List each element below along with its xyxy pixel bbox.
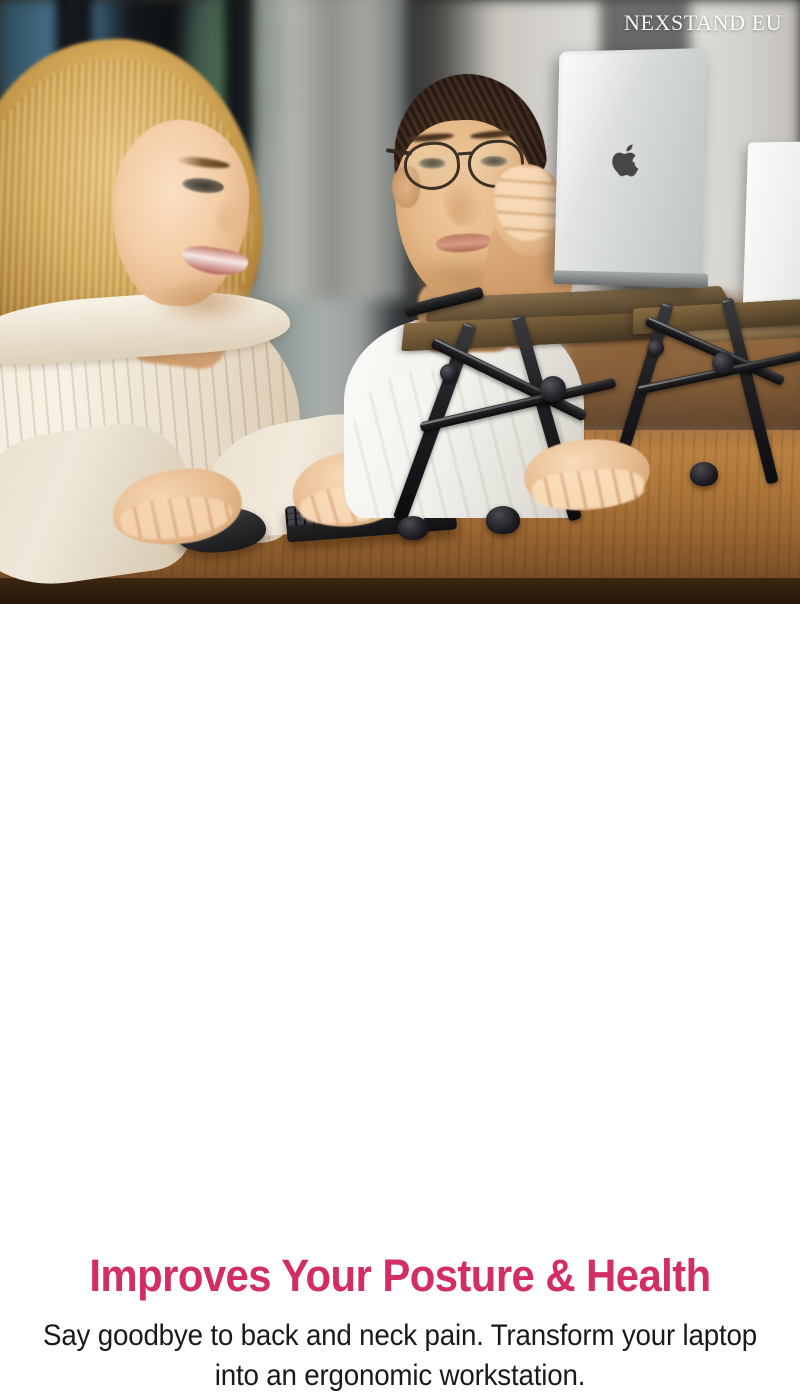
stand-rear-foot-a <box>690 462 718 486</box>
caption-headline: Improves Your Posture & Health <box>28 1252 772 1300</box>
apple-logo-icon <box>611 141 645 182</box>
stand-front-foot-a <box>486 506 520 534</box>
product-image-card: NEXSTAND EU Improves Your Posture & Heal… <box>0 0 800 800</box>
stand-rear-pivot-left <box>648 340 664 356</box>
stand-front-pivot-left <box>440 364 458 382</box>
background-curtain <box>255 0 405 300</box>
stand-rear-pivot-center <box>712 352 734 374</box>
stand-front-foot-b <box>398 516 428 540</box>
watermark-brand: NEXSTAND EU <box>624 10 782 36</box>
caption-band: Improves Your Posture & Health Say goodb… <box>0 604 800 800</box>
woman-nose <box>216 196 256 238</box>
stand-front-pivot-center <box>540 376 566 402</box>
macbook-lid <box>554 48 706 288</box>
woman-chin-shadow <box>150 276 260 326</box>
lifestyle-photo: NEXSTAND EU <box>0 0 800 604</box>
laptop-right-lid <box>742 141 800 325</box>
caption-subline: Say goodbye to back and neck pain. Trans… <box>37 1316 763 1396</box>
desk-front-edge <box>0 578 800 604</box>
